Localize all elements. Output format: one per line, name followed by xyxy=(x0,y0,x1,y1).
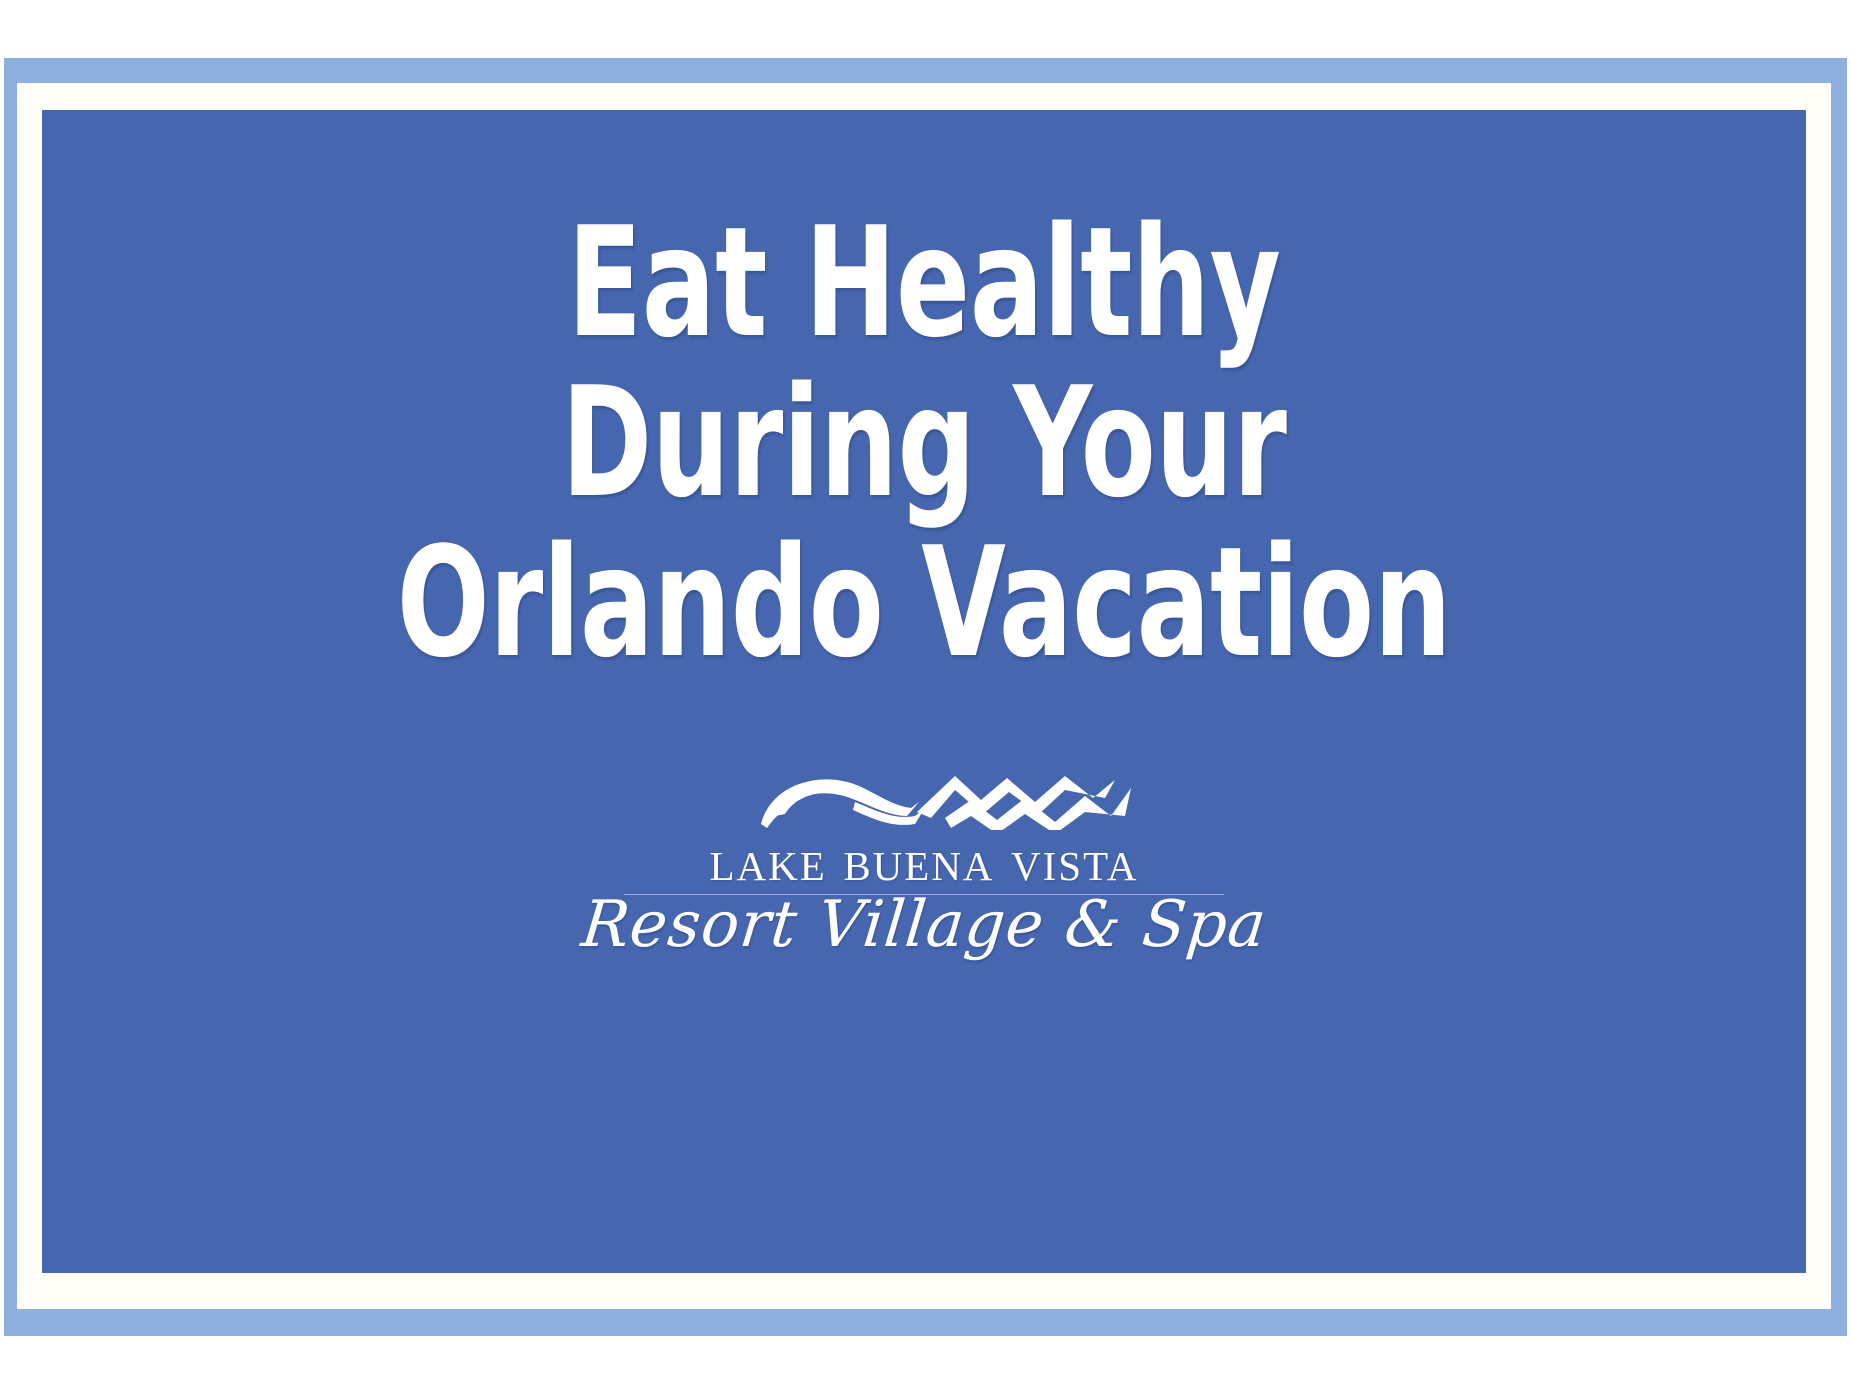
logo-wordmark-text: Lake Buena Vista xyxy=(710,832,1139,890)
poster-canvas: Eat Healthy During Your Orlando Vacation… xyxy=(0,0,1851,1388)
headline-line-3: Orlando Vacation xyxy=(218,530,1629,676)
headline-line-1: Eat Healthy xyxy=(218,210,1629,356)
blue-content-panel: Eat Healthy During Your Orlando Vacation… xyxy=(42,110,1806,1273)
wave-mountain-swoosh-icon xyxy=(759,772,1159,830)
lake-buena-vista-logo: Lake Buena Vista Resort Village & Spa xyxy=(614,772,1234,963)
headline-block: Eat Healthy During Your Orlando Vacation xyxy=(42,210,1806,676)
headline-line-2: During Your xyxy=(218,370,1629,516)
logo-script-tagline: Resort Village & Spa xyxy=(578,889,1270,963)
